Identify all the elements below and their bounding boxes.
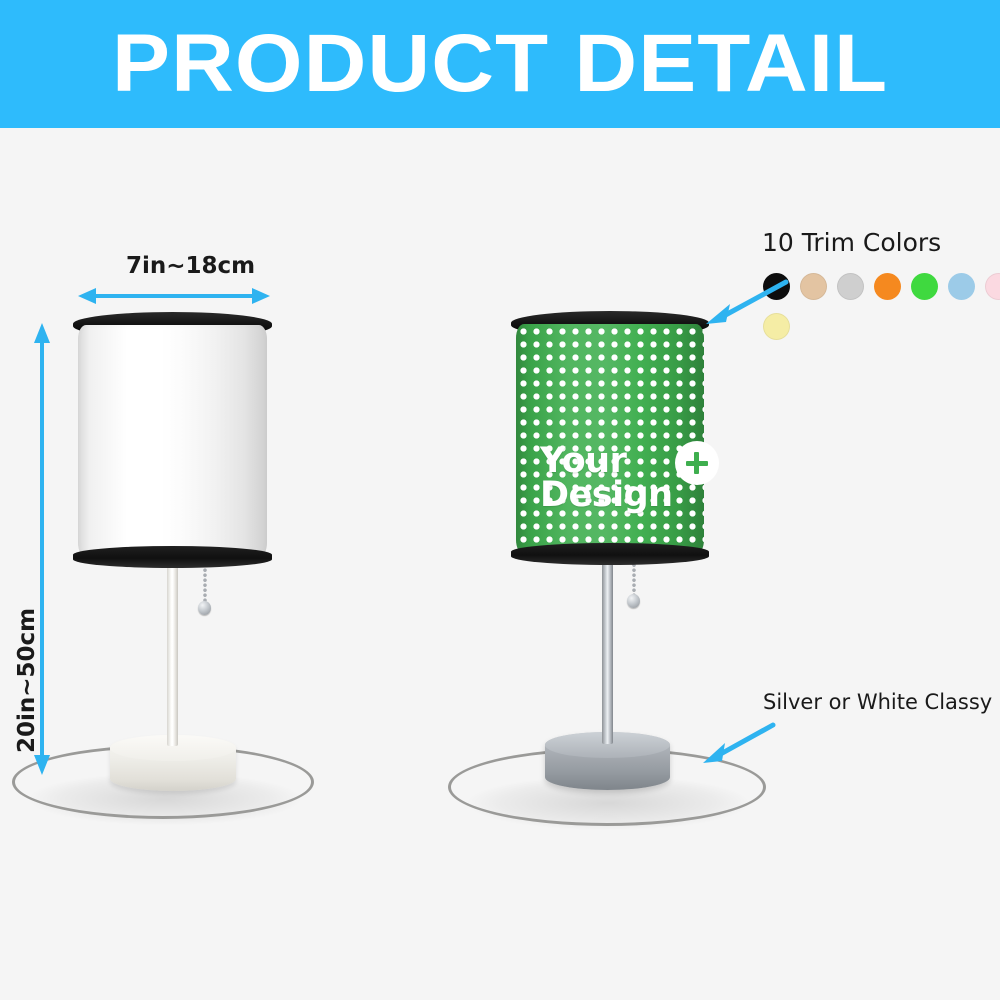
left-lamp-shade-body	[78, 325, 267, 557]
left-lamp-trim-bottom	[73, 546, 272, 568]
trim-swatch-tan[interactable]	[800, 273, 827, 300]
base-finish-label: Silver or White Classy	[763, 690, 992, 714]
width-dimension-label: 7in~18cm	[126, 253, 255, 279]
right-lamp-shade-body: Your Design	[516, 324, 704, 554]
trim-swatch-orange[interactable]	[874, 273, 901, 300]
trim-swatch-pink[interactable]	[985, 273, 1000, 300]
trim-swatch-green[interactable]	[911, 273, 938, 300]
height-dimension-arrow	[32, 323, 52, 775]
trim-swatch-light-gray[interactable]	[837, 273, 864, 300]
left-lamp-shade	[78, 325, 267, 557]
right-lamp-stem	[602, 556, 613, 744]
trim-color-swatches	[763, 273, 1000, 343]
design-line-1: Your	[540, 444, 673, 478]
header-band: PRODUCT DETAIL	[0, 0, 1000, 128]
base-finish-pointer-arrow	[697, 721, 777, 766]
trim-swatch-light-blue[interactable]	[948, 273, 975, 300]
plus-icon	[675, 441, 719, 485]
left-lamp-stem	[167, 556, 178, 746]
width-dimension-arrow	[78, 286, 270, 306]
trim-colors-pointer-arrow	[700, 278, 790, 326]
product-detail-stage: 7in~18cm 20in~50cm Your	[0, 128, 1000, 1000]
trim-colors-title: 10 Trim Colors	[762, 228, 941, 257]
right-lamp-trim-bottom	[511, 543, 709, 565]
page-title: PRODUCT DETAIL	[112, 23, 888, 105]
right-lamp-shade: Your Design	[516, 324, 704, 554]
right-lamp-pull-ball[interactable]	[627, 594, 640, 608]
left-lamp-pull-ball[interactable]	[198, 601, 211, 615]
your-design-artwork: Your Design	[540, 444, 673, 513]
design-line-2: Design	[540, 478, 673, 512]
